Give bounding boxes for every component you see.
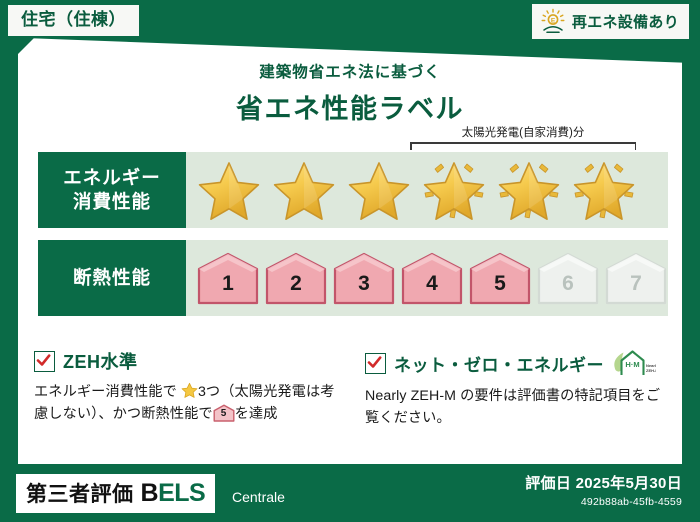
- row-energy-body: 太陽光発電(自家消費)分: [186, 152, 668, 228]
- star-4: [417, 155, 491, 225]
- bels-jp-label: 第三者評価: [26, 478, 134, 508]
- zeh-m-logo-icon: H·M Nearly ZEH-M: [612, 348, 656, 378]
- row-energy-label-line2: 消費性能: [73, 190, 151, 214]
- star-icon: [342, 155, 416, 225]
- insulation-level-1: 1: [196, 251, 260, 305]
- zeh-body-part1: エネルギー消費性能で: [34, 384, 177, 400]
- info-column-netzero: ネット・ゼロ・エネルギー H·M Nearly ZEH-M Nearly ZEH…: [365, 348, 674, 429]
- row-insulation-performance: 断熱性能 1234567: [38, 240, 668, 316]
- footer: 第三者評価 BELS Centrale 評価日 2025年5月30日 492b8…: [0, 464, 700, 522]
- insulation-level-value: 3: [358, 272, 370, 305]
- row-insulation-label-text: 断熱性能: [73, 266, 151, 290]
- info-columns: ZEH水準 エネルギー消費性能で 3つ（太陽光発電は考慮しない）、かつ断熱性能で…: [34, 348, 674, 429]
- centrale-label: Centrale: [232, 489, 285, 505]
- star-icon: [567, 155, 641, 225]
- svg-text:H·M: H·M: [625, 360, 639, 369]
- star-5: [492, 155, 566, 225]
- insulation-level-4: 4: [400, 251, 464, 305]
- renewable-energy-badge: E 再エネ設備あり: [532, 4, 689, 39]
- insulation-level-value: 2: [290, 272, 302, 305]
- netzero-body: Nearly ZEH-M の要件は評価書の特記項目をご覧ください。: [365, 385, 674, 429]
- renewable-badge-label: 再エネ設備あり: [572, 11, 679, 32]
- insulation-level-value: 6: [562, 272, 574, 305]
- page-title: 省エネ性能ラベル: [0, 87, 700, 126]
- title-block: 建築物省エネ法に基づく 省エネ性能ラベル: [0, 60, 700, 126]
- star-icon: [267, 155, 341, 225]
- star-icon: [417, 155, 491, 225]
- star-icon: [192, 155, 266, 225]
- star-icon: [181, 382, 198, 399]
- insulation-level-value: 1: [222, 272, 234, 305]
- insulation-level-value: 5: [494, 272, 506, 305]
- zeh-heading: ZEH水準: [34, 348, 343, 374]
- sun-solar-icon: E: [540, 8, 566, 34]
- bels-letters-els: ELS: [158, 479, 205, 507]
- check-icon: [36, 353, 51, 368]
- netzero-checkbox: [365, 353, 386, 374]
- star-1: [192, 155, 266, 225]
- svg-text:ZEH-M: ZEH-M: [646, 368, 656, 373]
- insulation-level-value: 7: [630, 272, 642, 305]
- row-energy-label: エネルギー 消費性能: [38, 152, 186, 228]
- insulation-level-scale: 1234567: [186, 251, 668, 305]
- zeh-body: エネルギー消費性能で 3つ（太陽光発電は考慮しない）、かつ断熱性能で 5 を達成: [34, 381, 343, 425]
- insulation-level-6: 6: [536, 251, 600, 305]
- zeh-checkbox: [34, 351, 55, 372]
- star-3: [342, 155, 416, 225]
- svg-text:E: E: [551, 17, 556, 24]
- bels-en-label: BELS: [141, 479, 206, 508]
- bels-energy-label: 住宅（住棟） E 再エネ設備あり 建築物省エネ法に基づく 省エネ性能ラベル: [0, 0, 700, 522]
- performance-rows: エネルギー 消費性能 太陽光発電(自家消費)分 断熱性能 1234567: [38, 152, 668, 328]
- zeh-title: ZEH水準: [63, 348, 138, 374]
- check-icon: [367, 355, 382, 370]
- bels-letter-b: B: [141, 479, 159, 507]
- zeh-body-part3: を達成: [235, 406, 278, 422]
- info-column-zeh: ZEH水準 エネルギー消費性能で 3つ（太陽光発電は考慮しない）、かつ断熱性能で…: [34, 348, 343, 429]
- insulation-level-2: 2: [264, 251, 328, 305]
- star-2: [267, 155, 341, 225]
- insulation-level-5: 5: [468, 251, 532, 305]
- bels-certification-mark: 第三者評価 BELS: [16, 474, 215, 513]
- inline-insulation-badge-value: 5: [213, 406, 235, 422]
- row-energy-performance: エネルギー 消費性能 太陽光発電(自家消費)分: [38, 152, 668, 228]
- housing-type-tag: 住宅（住棟）: [8, 5, 139, 36]
- insulation-level-3: 3: [332, 251, 396, 305]
- row-insulation-body: 1234567: [186, 240, 668, 316]
- netzero-heading: ネット・ゼロ・エネルギー H·M Nearly ZEH-M: [365, 348, 674, 378]
- footer-meta: 評価日 2025年5月30日 492b88ab-45fb-4559: [525, 472, 682, 508]
- evaluation-date: 評価日 2025年5月30日: [525, 472, 682, 493]
- insulation-level-value: 4: [426, 272, 438, 305]
- insulation-level-7: 7: [604, 251, 668, 305]
- row-insulation-label: 断熱性能: [38, 240, 186, 316]
- netzero-title: ネット・ゼロ・エネルギー: [394, 351, 604, 376]
- star-6: [567, 155, 641, 225]
- inline-insulation-badge: 5: [213, 404, 235, 422]
- star-icon: [492, 155, 566, 225]
- evaluation-id: 492b88ab-45fb-4559: [525, 496, 682, 508]
- row-energy-label-line1: エネルギー: [63, 166, 161, 190]
- star-rating: [186, 155, 641, 225]
- title-subtitle: 建築物省エネ法に基づく: [0, 60, 700, 82]
